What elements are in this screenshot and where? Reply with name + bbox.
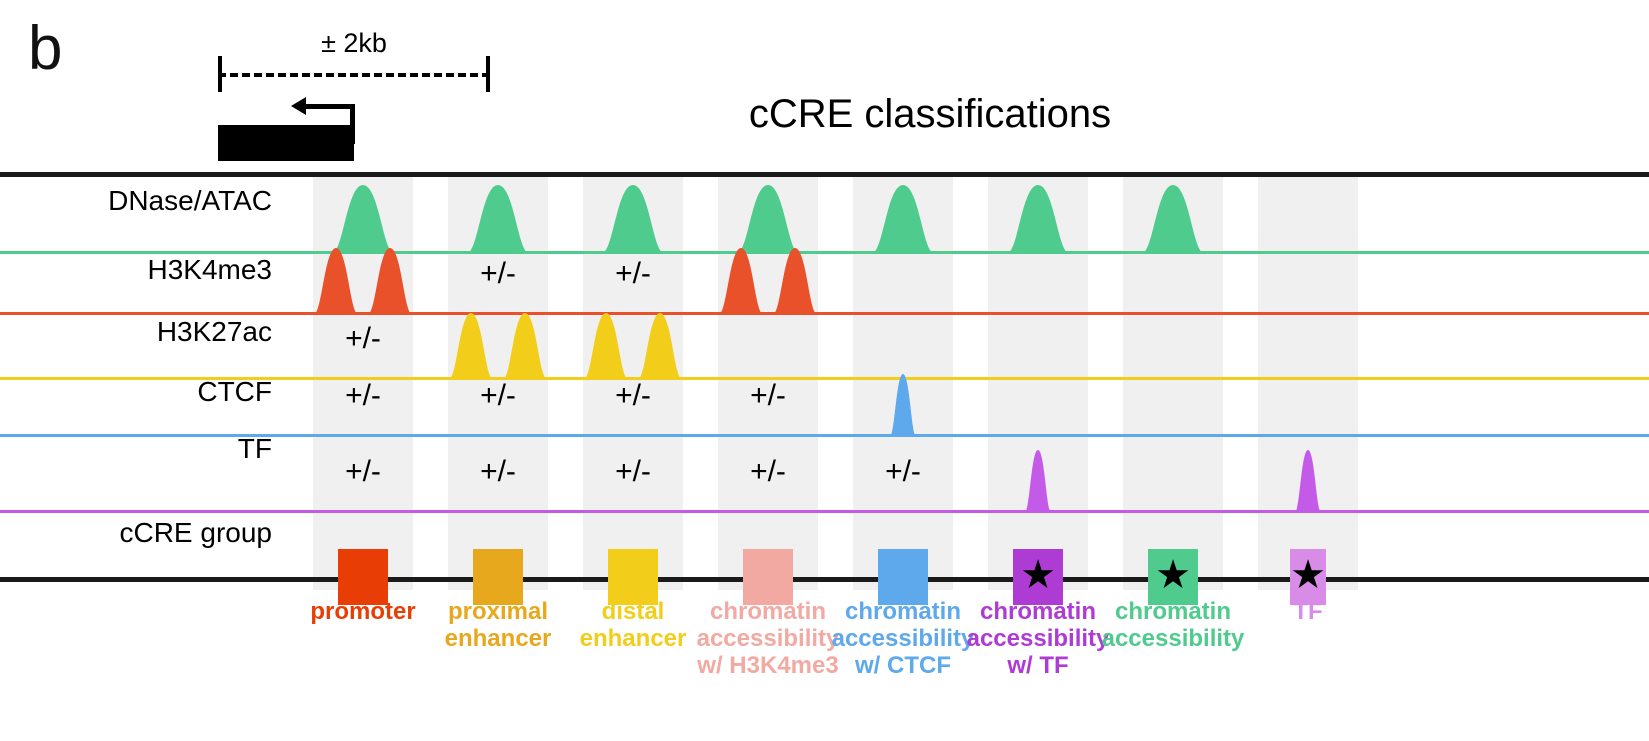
peak-dnase-distal-enhancer	[602, 185, 664, 258]
column-label-ca-ctcf: chromatin accessibility w/ CTCF	[825, 598, 981, 679]
peak-shape	[602, 185, 664, 253]
star-icon-tf-only: ★	[1283, 555, 1333, 595]
axis-tf	[0, 510, 1649, 513]
row-label-h3k4me3: H3K4me3	[147, 255, 272, 285]
peak-shape	[890, 374, 916, 436]
partial-marker-tf-proximal-enhancer: +/-	[443, 456, 553, 488]
partial-marker-h3k27ac-promoter: +/-	[308, 323, 418, 355]
peak-h3k4me3-ca-h3k4me3-2	[773, 248, 817, 319]
peak-shape	[737, 185, 799, 253]
ccre-classification-figure: b ± 2kb cCRE classifications DNase/ATACH…	[0, 0, 1649, 741]
peak-shape	[872, 185, 934, 253]
axis-group	[0, 577, 1649, 582]
row-label-ctcf: CTCF	[197, 377, 272, 407]
peak-shape	[368, 248, 412, 314]
peak-shape	[1295, 450, 1321, 512]
column-label-distal-enhancer: distal enhancer	[555, 598, 711, 652]
group-square-ca-ctcf[interactable]	[878, 549, 928, 605]
partial-marker-tf-ca-ctcf: +/-	[848, 456, 958, 488]
partial-marker-h3k4me3-distal-enhancer: +/-	[578, 258, 688, 290]
column-label-promoter: promoter	[285, 598, 441, 625]
partial-marker-ctcf-distal-enhancer: +/-	[578, 380, 688, 412]
peak-dnase-ca	[1142, 185, 1204, 258]
axis-h3k4me3	[0, 312, 1649, 315]
peak-h3k4me3-promoter-2	[368, 248, 412, 319]
peak-dnase-ca-tf	[1007, 185, 1069, 258]
peak-tf-ca-tf	[1025, 450, 1051, 517]
peak-shape	[1025, 450, 1051, 512]
peak-shape	[503, 313, 547, 379]
peak-shape	[719, 248, 763, 314]
group-square-proximal-enhancer[interactable]	[473, 549, 523, 605]
peak-h3k27ac-distal-enhancer-1	[584, 313, 628, 384]
row-label-tf: TF	[238, 434, 272, 464]
peak-ctcf-ca-ctcf	[890, 374, 916, 441]
partial-marker-ctcf-proximal-enhancer: +/-	[443, 380, 553, 412]
partial-marker-h3k4me3-proximal-enhancer: +/-	[443, 258, 553, 290]
column-label-proximal-enhancer: proximal enhancer	[420, 598, 576, 652]
column-label-ca: chromatin accessibility	[1095, 598, 1251, 652]
peak-dnase-ca-ctcf	[872, 185, 934, 258]
peak-shape	[584, 313, 628, 379]
column-band-tf-only	[1258, 176, 1358, 590]
row-label-group: cCRE group	[119, 518, 272, 548]
partial-marker-ctcf-ca-h3k4me3: +/-	[713, 380, 823, 412]
group-square-distal-enhancer[interactable]	[608, 549, 658, 605]
partial-marker-ctcf-promoter: +/-	[308, 380, 418, 412]
peak-shape	[638, 313, 682, 379]
axis-top	[0, 172, 1649, 177]
column-label-ca-h3k4me3: chromatin accessibility w/ H3K4me3	[690, 598, 846, 679]
peak-shape	[1007, 185, 1069, 253]
peak-h3k4me3-ca-h3k4me3-1	[719, 248, 763, 319]
peak-shape	[773, 248, 817, 314]
peak-h3k27ac-proximal-enhancer-1	[449, 313, 493, 384]
column-label-ca-tf: chromatin accessibility w/ TF	[960, 598, 1116, 679]
peak-tf-tf-only	[1295, 450, 1321, 517]
partial-marker-tf-ca-h3k4me3: +/-	[713, 456, 823, 488]
row-label-dnase: DNase/ATAC	[108, 186, 272, 216]
group-square-promoter[interactable]	[338, 549, 388, 605]
partial-marker-tf-promoter: +/-	[308, 456, 418, 488]
peak-h3k27ac-distal-enhancer-2	[638, 313, 682, 384]
peak-shape	[332, 185, 394, 253]
peak-h3k27ac-proximal-enhancer-2	[503, 313, 547, 384]
signal-matrix: DNase/ATACH3K4me3H3K27acCTCFTFcCRE group…	[0, 0, 1649, 741]
peak-h3k4me3-promoter-1	[314, 248, 358, 319]
peak-dnase-proximal-enhancer	[467, 185, 529, 258]
peak-shape	[467, 185, 529, 253]
group-square-ca-h3k4me3[interactable]	[743, 549, 793, 605]
peak-shape	[449, 313, 493, 379]
star-icon-ca: ★	[1148, 555, 1198, 595]
peak-shape	[1142, 185, 1204, 253]
star-icon-ca-tf: ★	[1013, 555, 1063, 595]
peak-shape	[314, 248, 358, 314]
column-label-tf-only: TF	[1230, 598, 1386, 625]
row-label-h3k27ac: H3K27ac	[157, 317, 272, 347]
partial-marker-tf-distal-enhancer: +/-	[578, 456, 688, 488]
